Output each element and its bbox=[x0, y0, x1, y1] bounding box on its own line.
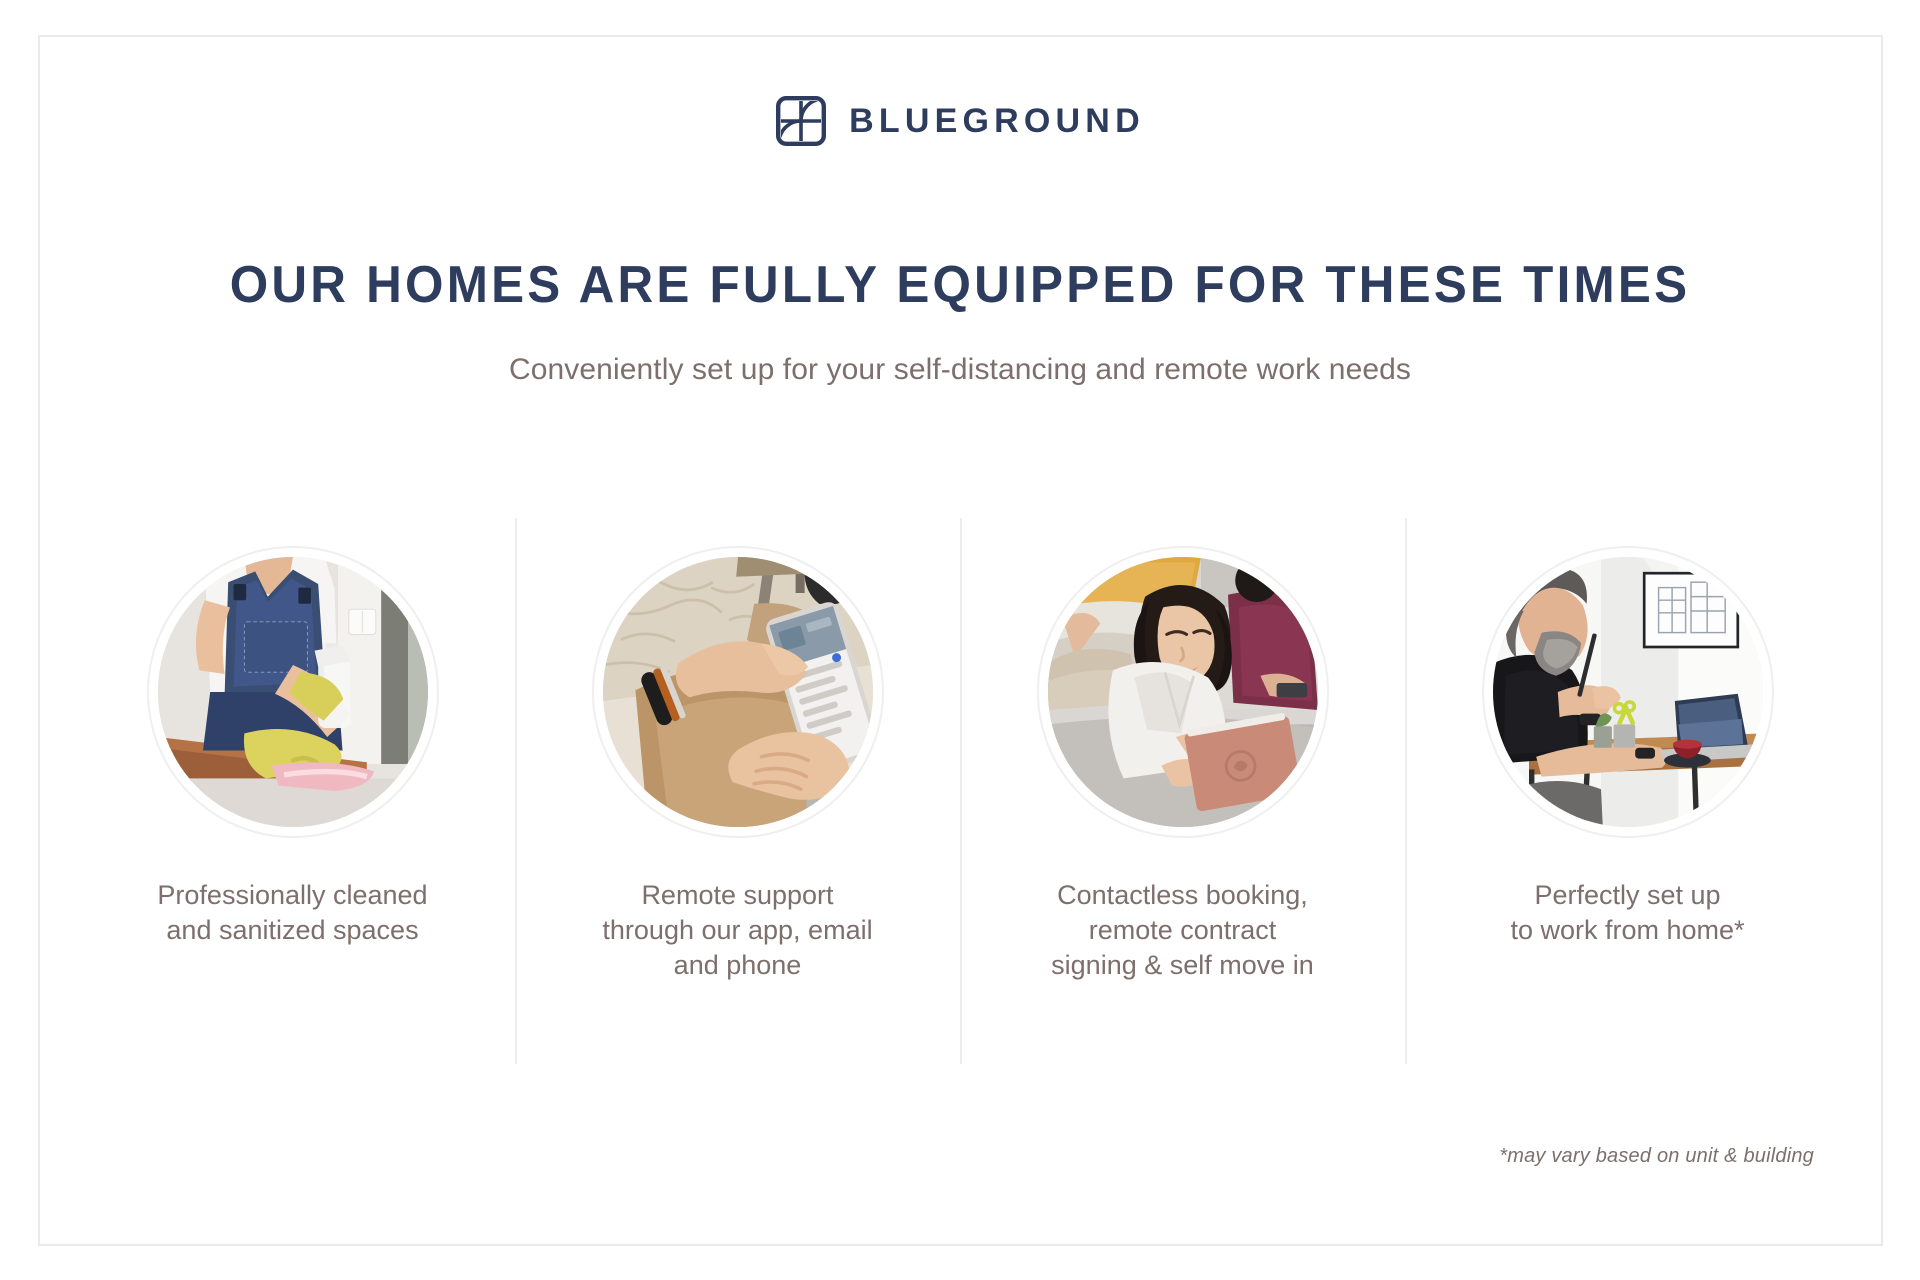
cleaner-wiping-counter-photo bbox=[158, 557, 428, 827]
feature-column-remote-support: Remote support through our app, email an… bbox=[515, 518, 960, 1064]
feature-column-work-from-home: Perfectly set up to work from home* bbox=[1405, 518, 1850, 1064]
feature-caption: Professionally cleaned and sanitized spa… bbox=[157, 878, 427, 948]
feature-columns: Professionally cleaned and sanitized spa… bbox=[70, 518, 1850, 1064]
woman-on-bed-with-tablet-photo bbox=[1048, 557, 1318, 827]
brand-lockup: BLUEGROUND bbox=[0, 95, 1920, 147]
feature-caption: Contactless booking, remote contract sig… bbox=[1051, 878, 1314, 983]
feature-column-contactless-booking: Contactless booking, remote contract sig… bbox=[960, 518, 1405, 1064]
hands-using-phone-app-photo bbox=[603, 557, 873, 827]
page-subtitle: Conveniently set up for your self-distan… bbox=[0, 353, 1920, 387]
man-working-at-desk-photo bbox=[1493, 557, 1763, 827]
footnote-disclaimer: *may vary based on unit & building bbox=[1499, 1145, 1814, 1168]
photo-ring bbox=[1037, 546, 1329, 838]
photo-ring bbox=[147, 546, 439, 838]
page-title: OUR HOMES ARE FULLY EQUIPPED FOR THESE T… bbox=[48, 255, 1872, 315]
feature-column-cleaning: Professionally cleaned and sanitized spa… bbox=[70, 518, 515, 1064]
brand-wordmark: BLUEGROUND bbox=[849, 104, 1145, 138]
photo-ring bbox=[1482, 546, 1774, 838]
photo-ring bbox=[592, 546, 884, 838]
infographic-page: BLUEGROUND OUR HOMES ARE FULLY EQUIPPED … bbox=[0, 0, 1920, 1280]
feature-caption: Remote support through our app, email an… bbox=[602, 878, 872, 983]
blueground-square-mark-icon bbox=[775, 95, 827, 147]
feature-caption: Perfectly set up to work from home* bbox=[1510, 878, 1744, 948]
